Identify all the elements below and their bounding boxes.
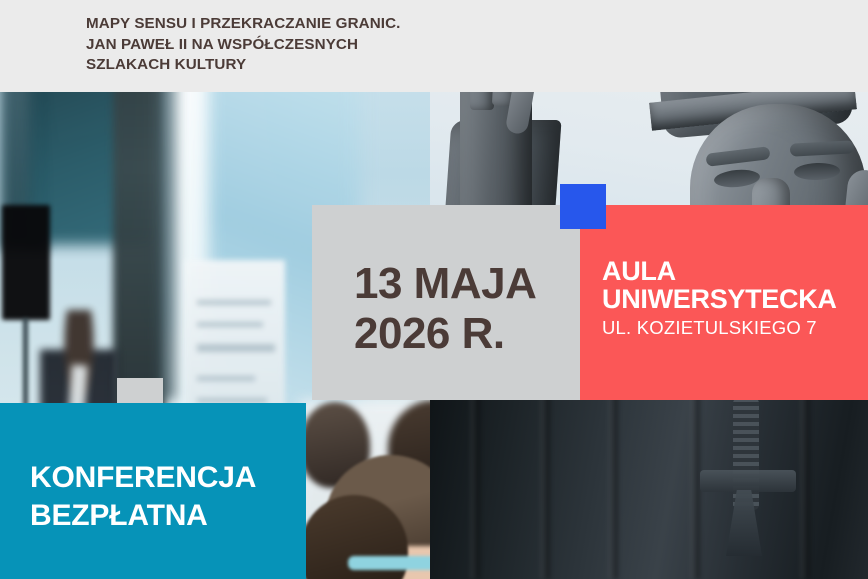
conference-poster: MAPY SENSU I PRZEKRACZANIE GRANIC. JAN P…	[0, 0, 868, 579]
statue-cross-icon	[700, 470, 796, 492]
date-block: 13 MAJA 2026 R.	[312, 205, 580, 400]
robe-fold	[608, 380, 618, 579]
free-admission-block: KONFERENCJA BEZPŁATNA	[0, 403, 306, 579]
hall-loudspeaker	[2, 205, 50, 320]
robe-fold	[800, 380, 810, 579]
banner-line	[197, 344, 275, 352]
event-date: 13 MAJA 2026 R.	[354, 259, 584, 359]
page-title: MAPY SENSU I PRZEKRACZANIE GRANIC. JAN P…	[86, 14, 506, 76]
robe-fold	[690, 380, 700, 579]
venue-block: AULA UNIWERSYTECKA UL. KOZIETULSKIEGO 7	[580, 205, 868, 400]
robe-fold	[540, 380, 550, 579]
banner-line	[197, 322, 263, 327]
blue-accent-square	[560, 184, 606, 229]
banner-line	[197, 300, 271, 305]
venue-address: UL. KOZIETULSKIEGO 7	[602, 318, 868, 338]
venue-name: AULA UNIWERSYTECKA	[602, 257, 868, 313]
robe-fold	[470, 380, 480, 579]
free-admission-label: KONFERENCJA BEZPŁATNA	[30, 459, 306, 535]
banner-line	[197, 376, 255, 381]
